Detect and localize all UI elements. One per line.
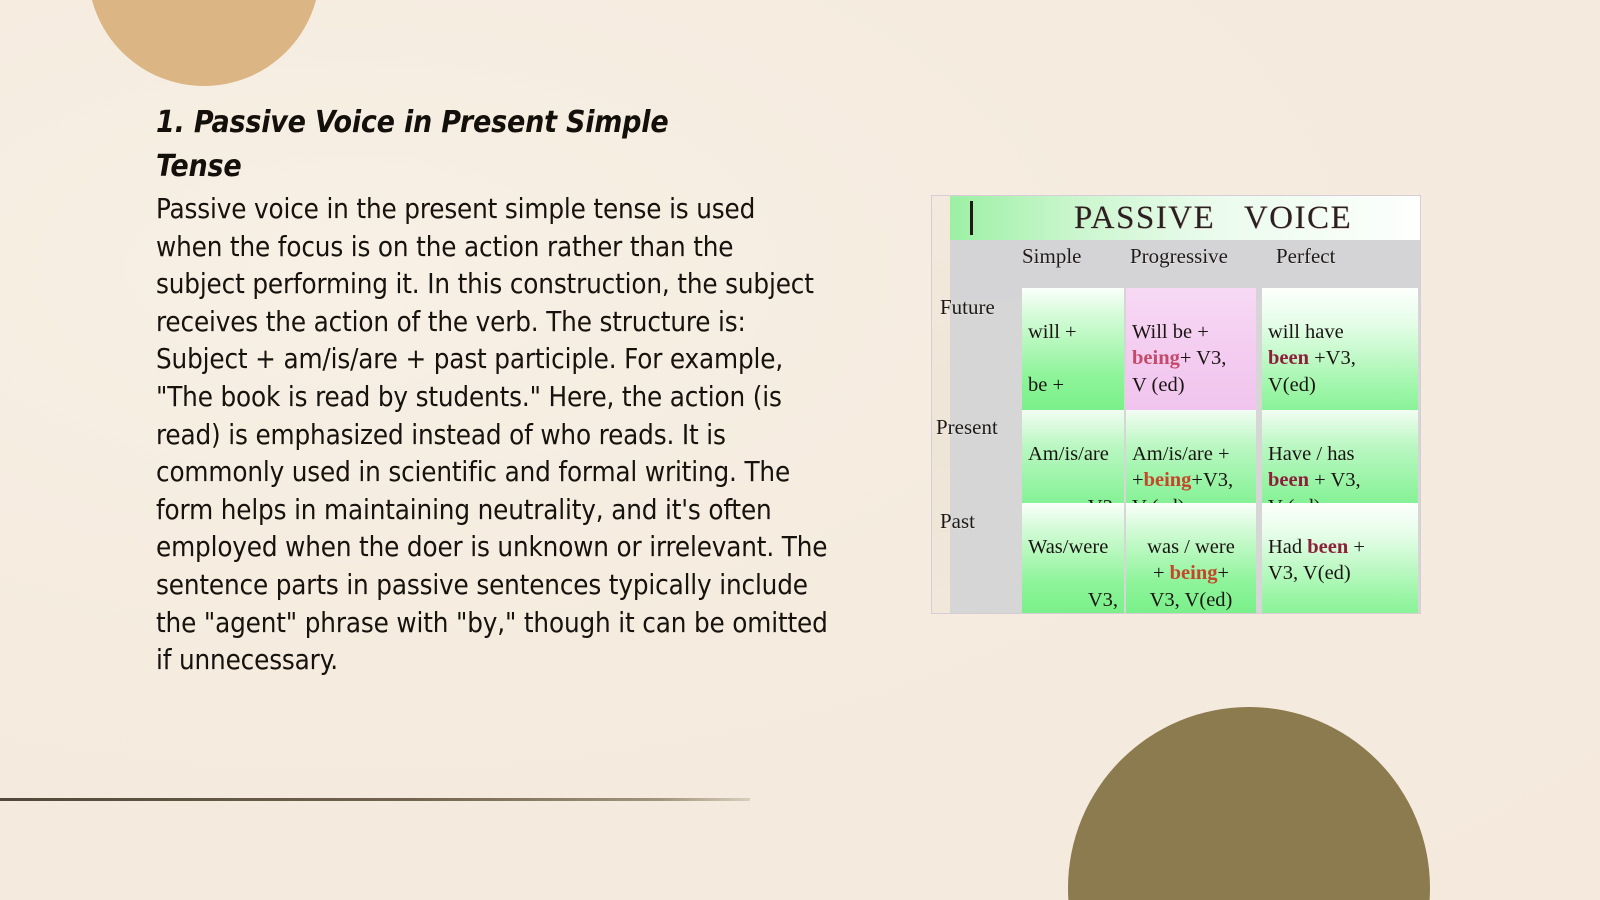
- cell-text-pre: Have / has: [1268, 443, 1355, 465]
- cell-emphasis: being: [1170, 562, 1218, 584]
- row-header-future: Future: [940, 295, 995, 320]
- cell-text-pre: Had: [1268, 536, 1307, 558]
- text-column: 1. Passive Voice in Present Simple Tense…: [156, 101, 828, 680]
- cell-past-perfect: Had been + V3, V(ed): [1262, 503, 1418, 613]
- figure-title: PASSIVE VOICE: [950, 200, 1420, 237]
- cell-past-progressive: was / were + being+ V3, V(ed): [1126, 503, 1256, 613]
- cell-future-progressive: Will be + being+ V3, V (ed): [1126, 288, 1256, 410]
- column-header-perfect: Perfect: [1276, 244, 1335, 269]
- figure-title-tick-mark: [970, 201, 973, 235]
- figure-left-gutter: [932, 196, 950, 613]
- cell-present-perfect: Have / has been + V3, V (ed): [1262, 410, 1418, 503]
- cell-emphasis: been: [1307, 536, 1348, 558]
- cell-emphasis: been: [1268, 347, 1309, 369]
- cell-past-simple: Was/were V3, V(ed): [1022, 503, 1124, 613]
- figure-title-bar: PASSIVE VOICE: [950, 196, 1420, 240]
- body-paragraph: Passive voice in the present simple tens…: [156, 189, 828, 680]
- cell-present-progressive: Am/is/are + +being+V3, V (ed): [1126, 410, 1256, 503]
- row-header-past: Past: [940, 509, 975, 534]
- cell-line: Am/is/are: [1028, 441, 1118, 468]
- column-header-simple: Simple: [1022, 244, 1082, 269]
- cell-future-simple: will + be + V3, V (ed): [1022, 288, 1124, 410]
- page-title: 1. Passive Voice in Present Simple Tense: [156, 101, 756, 189]
- column-header-progressive: Progressive: [1130, 244, 1228, 269]
- cell-text-pre: Will be +: [1132, 321, 1209, 343]
- passive-voice-table-figure: PASSIVE VOICE Simple Progressive Perfect…: [932, 196, 1420, 613]
- cell-line: be +: [1028, 372, 1118, 399]
- cell-line: V3,: [1028, 587, 1118, 614]
- cell-line: Was/were: [1028, 534, 1118, 561]
- cell-line: will +: [1028, 319, 1118, 346]
- cell-emphasis: been: [1268, 469, 1309, 491]
- divider-rule: [0, 798, 750, 801]
- cell-emphasis: being: [1144, 469, 1192, 491]
- cell-emphasis: being: [1132, 347, 1180, 369]
- decorative-circle-bottom-right: [1068, 707, 1430, 900]
- decorative-circle-top-left: [88, 0, 320, 86]
- cell-present-simple: Am/is/are V3, V(ed): [1022, 410, 1124, 503]
- row-header-present: Present: [936, 415, 998, 440]
- slide-canvas: 1. Passive Voice in Present Simple Tense…: [0, 0, 1600, 900]
- cell-text-pre: will have: [1268, 321, 1344, 343]
- cell-future-perfect: will have been +V3, V(ed): [1262, 288, 1418, 410]
